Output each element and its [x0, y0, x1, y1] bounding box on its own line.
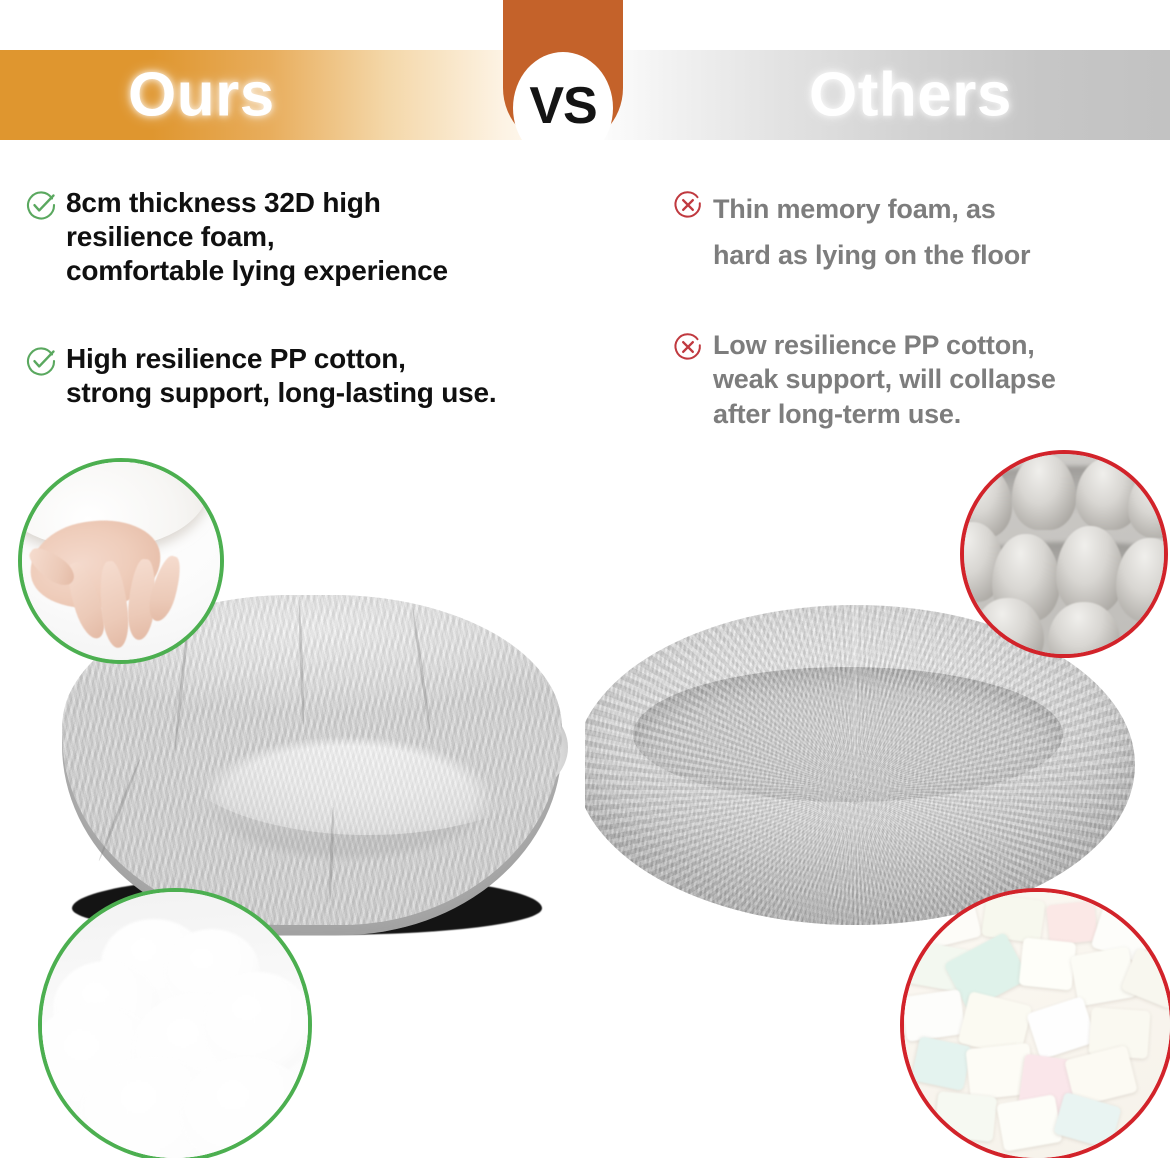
header: Ours Others VS: [0, 0, 1170, 172]
pp-cotton-inset: [38, 888, 312, 1158]
others-bullet-2-text: Low resilience PP cotton, weak support, …: [713, 328, 1056, 431]
foam-chips-inset: [900, 888, 1170, 1158]
check-circle-icon: [25, 189, 57, 221]
foam-chip: [901, 989, 965, 1042]
others-bullet-2: Low resilience PP cotton, weak support, …: [672, 328, 1170, 431]
ours-banner: Ours: [0, 50, 585, 140]
others-title: Others: [809, 60, 1012, 131]
ours-bullet-2-text: High resilience PP cotton, strong suppor…: [66, 342, 497, 410]
foam-chip: [981, 893, 1045, 943]
ours-bullet-1: 8cm thickness 32D high resilience foam, …: [25, 186, 585, 288]
ours-title: Ours: [128, 60, 275, 131]
comparison-infographic: Ours Others VS 8cm thickness 32D high re…: [0, 0, 1170, 1158]
vs-label: VS: [529, 80, 596, 132]
foam-peak: [1056, 526, 1124, 614]
others-bullet-1-text: Thin memory foam, as hard as lying on th…: [713, 186, 1030, 279]
foam-hand-inset: [18, 458, 224, 664]
foam-chip: [1019, 937, 1077, 990]
wave-foam-inset: [960, 450, 1168, 658]
foam-peak: [1012, 454, 1076, 530]
ours-bullet-1-text: 8cm thickness 32D high resilience foam, …: [66, 186, 448, 288]
check-circle-icon: [25, 345, 57, 377]
others-banner: Others: [585, 50, 1170, 140]
vs-badge: VS: [513, 52, 613, 164]
ours-bullet-2: High resilience PP cotton, strong suppor…: [25, 342, 640, 410]
cotton-puff: [180, 1057, 312, 1158]
others-bullet-1: Thin memory foam, as hard as lying on th…: [672, 186, 1170, 279]
foam-chip: [934, 1091, 997, 1142]
x-circle-icon: [672, 331, 704, 363]
foam-chip: [1046, 900, 1098, 945]
x-circle-icon: [672, 189, 704, 221]
